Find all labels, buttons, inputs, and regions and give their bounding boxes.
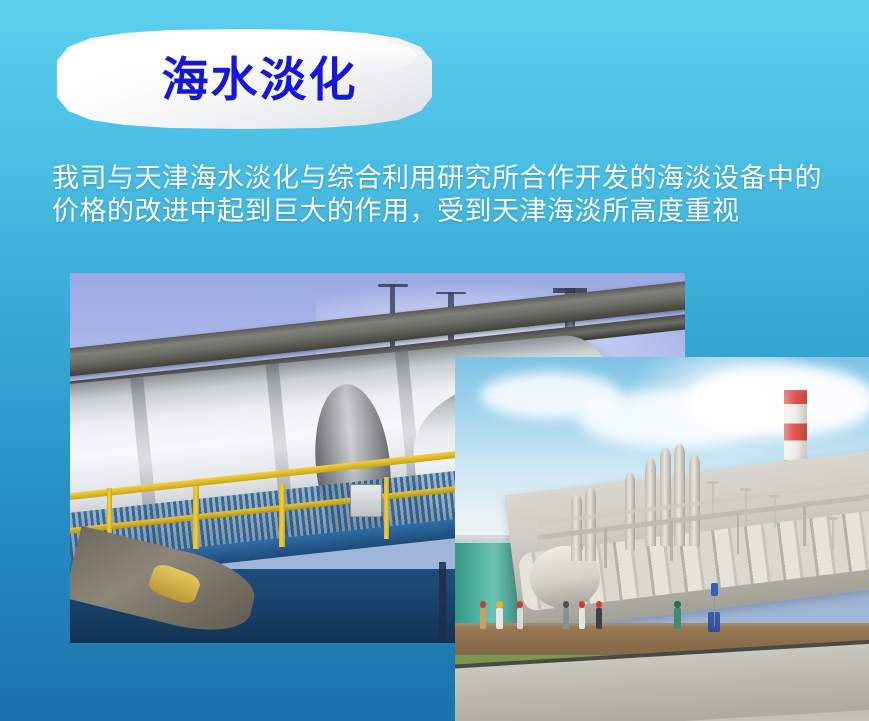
photo-desalination-plant [455, 357, 869, 721]
railing-post [384, 477, 390, 540]
rack-support-post [670, 521, 673, 561]
worker [563, 608, 569, 628]
worker [674, 608, 680, 628]
description-line-1: 我司与天津海水淡化与综合利用研究所合作开发的海淡设备中的 [52, 162, 869, 195]
distillation-column [660, 448, 671, 546]
railing-post [193, 486, 199, 549]
distillation-column [585, 488, 596, 561]
steel-column [439, 562, 446, 643]
rack-support-post [737, 514, 740, 554]
description-paragraph: 我司与天津海水淡化与综合利用研究所合作开发的海淡设备中的 价格的改进中起到巨大的… [52, 162, 869, 228]
slide-page: 海水淡化 我司与天津海水淡化与综合利用研究所合作开发的海淡设备中的 价格的改进中… [0, 0, 869, 721]
rack-support-post [803, 506, 806, 546]
distillation-column [645, 459, 656, 546]
worker [496, 608, 502, 628]
page-title: 海水淡化 [57, 29, 432, 129]
description-line-2: 价格的改进中起到巨大的作用，受到天津海淡所高度重视 [52, 195, 869, 228]
rack-support-post [604, 528, 607, 568]
junction-box [350, 484, 382, 517]
title-badge: 海水淡化 [57, 29, 432, 129]
yard-light-pole [712, 481, 714, 514]
distillation-column [571, 495, 582, 561]
distillation-column [674, 444, 685, 546]
yard-light-pole [774, 495, 776, 528]
worker [596, 608, 602, 628]
worker [517, 608, 523, 628]
yard-light-pole [832, 517, 834, 550]
blue-sign [711, 583, 718, 596]
photo-2-scene [455, 357, 869, 721]
railing-post [279, 484, 285, 547]
worker [480, 608, 486, 628]
yard-light-pole [745, 488, 747, 521]
worker [579, 608, 585, 628]
